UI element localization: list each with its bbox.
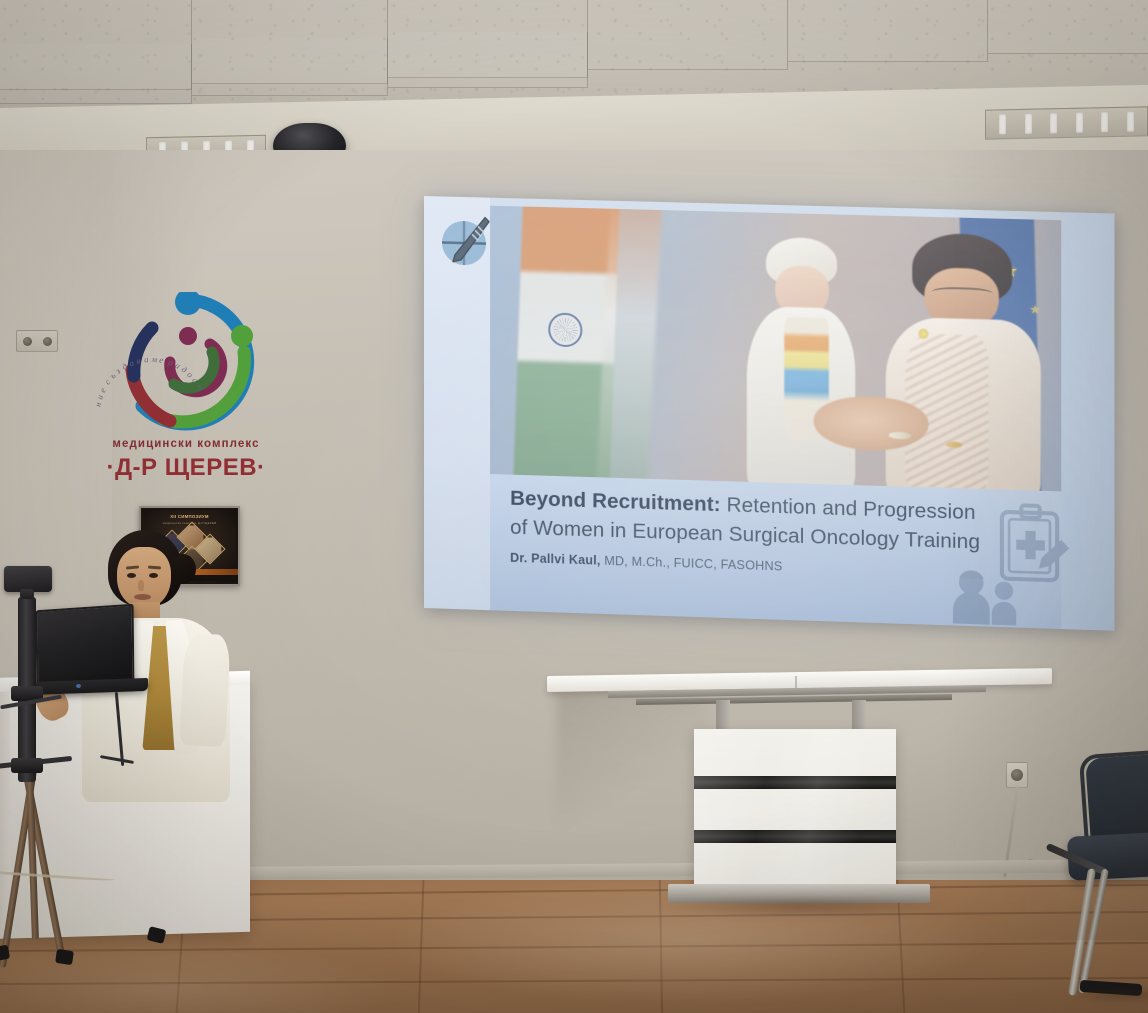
- logo-ring-icon: [118, 292, 258, 432]
- clinic-wall-logo: н и е с ъ з д а в а м е р а д о с т меди…: [96, 288, 276, 503]
- presenter-hair-bun: [170, 554, 196, 584]
- chair-backrest: [1085, 753, 1148, 845]
- wall-socket-left[interactable]: [16, 330, 58, 352]
- tripod-foot: [55, 949, 74, 965]
- table-pedestal: [694, 729, 896, 889]
- wall-socket-right[interactable]: [1006, 762, 1028, 788]
- camera-tilt-knob[interactable]: [20, 589, 34, 599]
- table-stem-right: [852, 700, 866, 732]
- slide-title-rest: Retention and Progression: [721, 493, 976, 524]
- ceiling-tile: [988, 0, 1148, 54]
- presenter-arm-right: [179, 633, 231, 747]
- air-vent-right: [985, 106, 1148, 139]
- presenter-mouth: [134, 594, 151, 600]
- blue-chair[interactable]: [1062, 756, 1148, 996]
- ceiling-tile: [588, 0, 788, 70]
- clinic-name-subtitle: медицински комплекс: [96, 438, 276, 450]
- slide-byline: Dr. Pallvi Kaul, MD, M.Ch., FUICC, FASOH…: [510, 551, 782, 574]
- pedestal-stripe: [694, 776, 896, 789]
- projection-screen: ★ ★ ★: [424, 196, 1115, 631]
- conference-room-photo: н и е с ъ з д а в а м е р а д о с т меди…: [0, 0, 1148, 1013]
- photo-projection-haze: [490, 206, 1061, 492]
- ceiling-tile: [192, 38, 388, 96]
- presenter-name: Dr. Pallvi Kaul,: [510, 551, 600, 568]
- ceiling-tile: [388, 32, 588, 88]
- podium-side-panel: [0, 689, 10, 930]
- medical-people-icon: [947, 565, 1035, 626]
- presenter-credentials: MD, M.Ch., FUICC, FASOHNS: [601, 554, 783, 574]
- presentation-slide: ★ ★ ★: [424, 196, 1115, 631]
- table-stem-left: [716, 700, 730, 732]
- slide-photo: ★ ★ ★: [490, 206, 1061, 492]
- presenter-eye: [149, 573, 158, 578]
- presenter-eye: [127, 573, 136, 578]
- scalpel-icon: [435, 209, 497, 273]
- laptop-power-led-icon: [76, 684, 81, 688]
- slide-title-bold: Beyond Recruitment:: [510, 487, 721, 517]
- table-wall-shadow: [556, 688, 706, 838]
- tripod-collar[interactable]: [11, 758, 43, 773]
- pedestal-stripe: [694, 830, 896, 843]
- table-floor-shadow: [656, 898, 946, 916]
- poster-title: XII СИМПОЗИУМ: [143, 514, 236, 519]
- chair-floor-shadow: [1066, 988, 1148, 1002]
- ceiling-tile: [0, 44, 192, 104]
- ceiling-tile: [788, 0, 988, 62]
- presenter-nose: [138, 580, 144, 591]
- clinic-name-title: ·Д-Р ЩЕРЕВ·: [96, 454, 276, 482]
